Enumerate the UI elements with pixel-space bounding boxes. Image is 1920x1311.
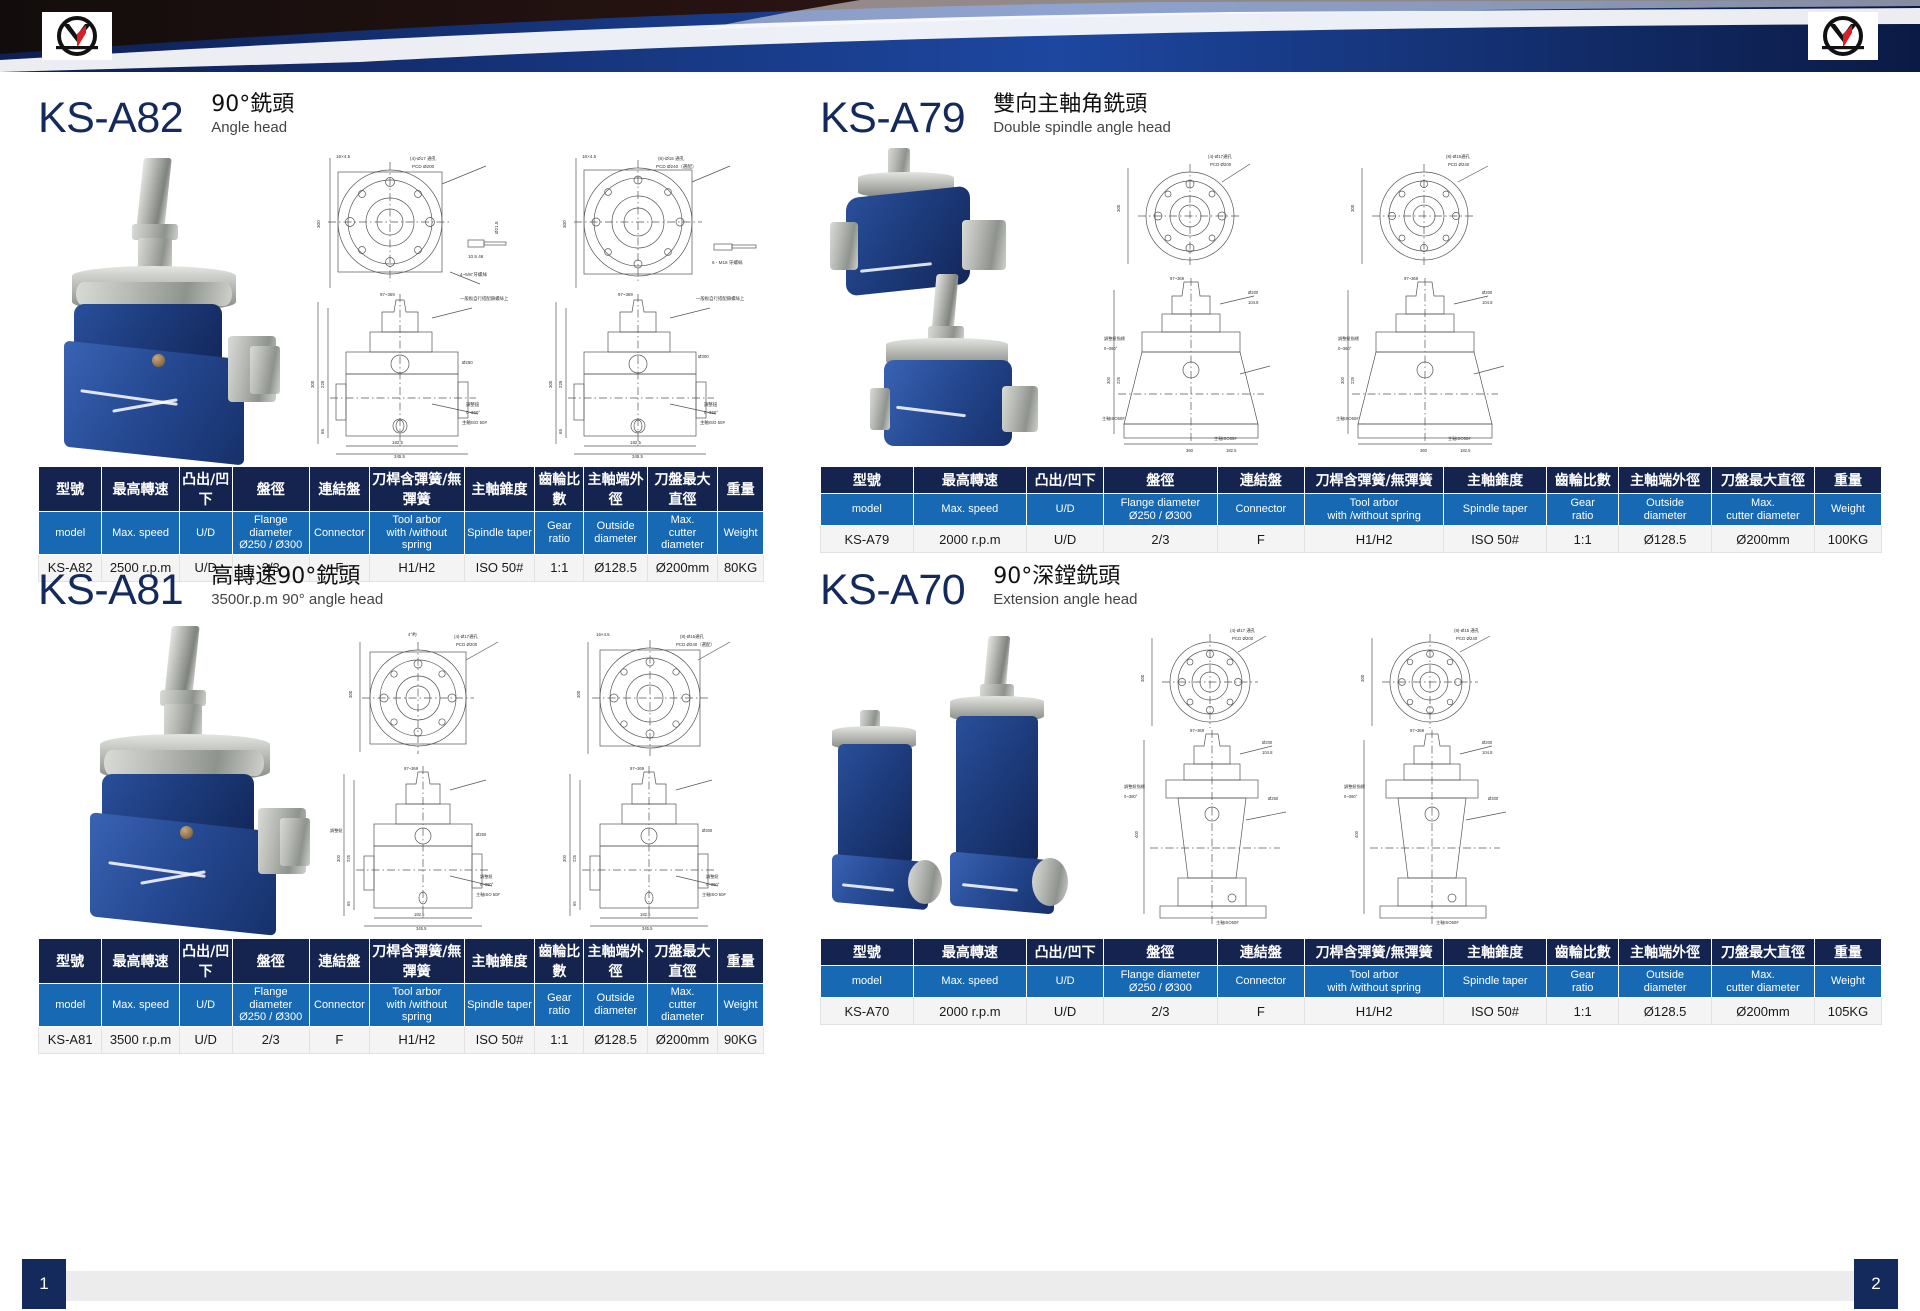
th-en-flange: Flange diameterØ250 / Ø300 [1104, 966, 1217, 998]
product-block-ks-a79: KS-A79 雙向主軸角銑頭 Double spindle angle head [820, 84, 1882, 553]
cell-spindle-taper: ISO 50# [1444, 526, 1547, 553]
product-media-ks-a70: (4)-Ø17 通孔PCD Ø200 300 [820, 620, 1882, 932]
page-number-right: 2 [1854, 1259, 1898, 1309]
svg-text:97~369: 97~369 [380, 292, 395, 297]
th-en-outside-dia: Outsidediameter [1619, 966, 1712, 998]
th-en-weight: Weight [1814, 494, 1881, 526]
technical-drawing-section-right: 97~369 400 Ø200 104.8 Ø300 調整鈕指標 0~360° … [1340, 728, 1530, 928]
svg-text:182.5: 182.5 [1226, 448, 1237, 453]
cell-tool-arbor: H1/H2 [369, 1026, 464, 1053]
svg-text:300: 300 [316, 220, 321, 228]
svg-text:0~360°: 0~360° [480, 882, 494, 887]
cell-spindle-taper: ISO 50# [1444, 998, 1547, 1025]
th-cn-cutter-dia: 刀盤最大直徑 [647, 939, 717, 984]
cell-ud: U/D [1027, 526, 1104, 553]
th-en-tool-arbor: Tool arborwith /without spring [369, 512, 464, 555]
company-logo-icon [56, 15, 98, 57]
svg-text:97~369: 97~369 [1404, 276, 1419, 281]
svg-text:(4)-Ø17通孔: (4)-Ø17通孔 [1208, 153, 1233, 160]
svg-text:300: 300 [562, 220, 567, 228]
cell-gear-ratio: 1:1 [535, 1026, 584, 1053]
th-en-ud: U/D [1027, 966, 1104, 998]
svg-text:Ø200: Ø200 [1482, 290, 1493, 295]
product-title-row: KS-A70 90°深鏜銑頭 Extension angle head [820, 556, 1882, 612]
svg-text:(8)-Ø15通孔: (8)-Ø15通孔 [1446, 153, 1471, 160]
th-en-weight: Weight [718, 984, 764, 1027]
svg-text:104.8: 104.8 [1482, 750, 1493, 755]
svg-text:97~369: 97~369 [1170, 276, 1185, 281]
th-cn-gear-ratio: 齒輪比數 [535, 467, 584, 512]
svg-text:0~360°: 0~360° [1344, 794, 1358, 799]
technical-drawing-section-left: 97~369 400 Ø200 104.8 Ø250 調整鈕指標 0~360° … [1120, 728, 1310, 928]
technical-drawing-side-right: 97~369 300 225 65 182.5 345.5 Ø300 一般板自行… [538, 288, 776, 458]
th-cn-gear-ratio: 齒輪比數 [1547, 939, 1619, 966]
cell-gear-ratio: 1:1 [1547, 526, 1619, 553]
svg-text:225: 225 [558, 380, 563, 388]
th-cn-outside-dia: 主軸端外徑 [584, 467, 647, 512]
svg-text:97~369: 97~369 [404, 766, 419, 771]
svg-text:PCD Ø240（選配）: PCD Ø240（選配） [676, 641, 715, 648]
svg-text:97~369: 97~369 [630, 766, 645, 771]
technical-drawing-rear: (8)-Ø15 通孔 PCD Ø240（選配） 16×4.5 6 - M18 牙… [538, 148, 776, 296]
th-en-cutter-dia: Max.cutter diameter [1711, 494, 1814, 526]
table-header-cn-row: 型號 最高轉速 凸出/凹下 盤徑 連結盤 刀桿含彈簧/無彈簧 主軸錐度 齒輪比數… [39, 939, 764, 984]
svg-text:300: 300 [1140, 674, 1145, 682]
svg-text:182.5: 182.5 [414, 912, 425, 917]
svg-text:182.5: 182.5 [1460, 448, 1471, 453]
svg-text:300: 300 [548, 380, 553, 388]
cell-weight: 105KG [1814, 998, 1881, 1025]
svg-text:65: 65 [346, 901, 351, 906]
th-en-connector: Connector [1217, 494, 1305, 526]
header-swoosh-graphic [0, 0, 1920, 72]
th-en-model: model [821, 966, 914, 998]
th-en-gear-ratio: Gearratio [1547, 966, 1619, 998]
technical-drawing-side-left: 97~369 300 225 65 182.5 345.5 Ø250 調整鈕 調… [326, 762, 538, 930]
svg-text:調整鈕指標: 調整鈕指標 [1124, 783, 1146, 790]
svg-text:Ø200: Ø200 [1248, 290, 1259, 295]
th-cn-weight: 重量 [1814, 939, 1881, 966]
svg-text:PCD Ø240（選配）: PCD Ø240（選配） [656, 163, 697, 170]
svg-text:Ø250: Ø250 [462, 360, 473, 365]
spec-table-ks-a70: 型號 最高轉速 凸出/凹下 盤徑 連結盤 刀桿含彈簧/無彈簧 主軸錐度 齒輪比數… [820, 938, 1882, 1025]
footer-bar [36, 1271, 1884, 1301]
technical-drawing-front: (4)-Ø17 通孔 PCD Ø200 16×4.5 10.5 46 4~5/8… [300, 148, 538, 296]
table-header-en-row: model Max. speed U/D Flange diameterØ250… [39, 512, 764, 555]
product-title-cn: 高轉速90°銑頭 [211, 565, 383, 589]
svg-text:主軸ISO50#: 主軸ISO50# [1436, 919, 1459, 926]
cell-max-speed: 2000 r.p.m [913, 998, 1026, 1025]
cell-spindle-taper: ISO 50# [464, 1026, 534, 1053]
product-title-row: KS-A81 高轉速90°銑頭 3500r.p.m 90° angle head [38, 556, 764, 612]
svg-text:主軸ISO50#: 主軸ISO50# [1448, 435, 1471, 442]
svg-text:300: 300 [1116, 204, 1121, 212]
th-en-tool-arbor: Tool arborwith /without spring [1305, 494, 1444, 526]
th-en-cutter-dia: Max.cutter diameter [1711, 966, 1814, 998]
cell-model: KS-A79 [821, 526, 914, 553]
technical-drawing-side-left: 97~369 300 225 65 182.5 345.5 Ø250 一般板自行… [300, 288, 538, 458]
cell-outside-dia: Ø128.5 [1619, 998, 1712, 1025]
th-en-flange: Flange diameterØ250 / Ø300 [232, 512, 309, 555]
svg-text:PCD Ø200: PCD Ø200 [412, 164, 435, 169]
th-cn-connector: 連結盤 [309, 939, 369, 984]
product-title-en: Angle head [211, 119, 294, 138]
th-cn-model: 型號 [39, 467, 102, 512]
th-en-gear-ratio: Gearratio [535, 512, 584, 555]
svg-text:(8)-Ø15 通孔: (8)-Ø15 通孔 [1454, 627, 1480, 634]
technical-drawing-rear: 16×4.5 (8)-Ø15通孔PCD Ø240（選配） 300 [552, 626, 764, 766]
th-en-tool-arbor: Tool arborwith /without spring [369, 984, 464, 1027]
cell-flange: 2/3 [1104, 526, 1217, 553]
page-header [0, 0, 1920, 72]
cell-connector: F [309, 1026, 369, 1053]
svg-text:一般板自行搭配鎖螺絲上: 一般板自行搭配鎖螺絲上 [460, 295, 509, 302]
th-cn-tool-arbor: 刀桿含彈簧/無彈簧 [369, 939, 464, 984]
cell-flange: 2/3 [1104, 998, 1217, 1025]
svg-text:300: 300 [1340, 376, 1345, 384]
th-cn-cutter-dia: 刀盤最大直徑 [1711, 467, 1814, 494]
svg-text:調整鈕: 調整鈕 [704, 401, 718, 408]
svg-text:主軸ISO 50#: 主軸ISO 50# [700, 419, 725, 426]
product-title-en: Extension angle head [993, 591, 1137, 610]
th-cn-tool-arbor: 刀桿含彈簧/無彈簧 [369, 467, 464, 512]
svg-text:調整鈕: 調整鈕 [330, 827, 343, 834]
table-header-en-row: model Max. speed U/D Flange diameterØ250… [821, 966, 1882, 998]
th-cn-connector: 連結盤 [1217, 939, 1305, 966]
cell-flange: 2/3 [232, 1026, 309, 1053]
technical-drawing-front: 4°約 (4)-Ø17通孔PCD Ø200 300 [326, 626, 538, 766]
th-en-spindle-taper: Spindle taper [1444, 966, 1547, 998]
th-en-ud: U/D [1027, 494, 1104, 526]
svg-text:65: 65 [320, 429, 325, 434]
svg-text:(8)-Ø15 通孔: (8)-Ø15 通孔 [658, 155, 685, 162]
page-title: KS-A81 [38, 569, 183, 612]
svg-text:345.5: 345.5 [416, 926, 427, 930]
svg-text:225: 225 [1350, 376, 1355, 384]
svg-text:一般板自行搭配鎖螺絲上: 一般板自行搭配鎖螺絲上 [696, 295, 745, 302]
svg-text:300: 300 [1360, 674, 1365, 682]
product-photo-right [936, 636, 1066, 930]
th-cn-connector: 連結盤 [1217, 467, 1305, 494]
svg-text:PCD Ø240: PCD Ø240 [1456, 636, 1478, 641]
svg-text:400: 400 [1354, 830, 1359, 838]
th-en-outside-dia: Outsidediameter [584, 512, 647, 555]
svg-text:Ø200: Ø200 [1482, 740, 1493, 745]
th-en-max-speed: Max. speed [913, 494, 1026, 526]
product-photo [830, 148, 1050, 460]
svg-text:300: 300 [1350, 204, 1355, 212]
th-cn-ud: 凸出/凹下 [1027, 939, 1104, 966]
svg-text:104.8: 104.8 [1482, 300, 1493, 305]
svg-text:調整鈕: 調整鈕 [466, 401, 480, 408]
spec-table-ks-a81: 型號 最高轉速 凸出/凹下 盤徑 連結盤 刀桿含彈簧/無彈簧 主軸錐度 齒輪比數… [38, 938, 764, 1054]
svg-text:PCD Ø200: PCD Ø200 [1232, 636, 1254, 641]
th-cn-outside-dia: 主軸端外徑 [1619, 939, 1712, 966]
cell-tool-arbor: H1/H2 [1305, 998, 1444, 1025]
th-en-max-speed: Max. speed [102, 512, 179, 555]
th-en-cutter-dia: Max.cutter diameter [647, 984, 717, 1027]
th-cn-tool-arbor: 刀桿含彈簧/無彈簧 [1305, 939, 1444, 966]
th-cn-max-speed: 最高轉速 [913, 939, 1026, 966]
th-en-outside-dia: Outsidediameter [1619, 494, 1712, 526]
svg-text:0~360°: 0~360° [1338, 346, 1352, 351]
svg-text:0~360°: 0~360° [1124, 794, 1138, 799]
product-block-ks-a82: KS-A82 90°銑頭 Angle head [38, 84, 764, 582]
svg-text:360: 360 [1186, 448, 1194, 453]
svg-text:PCD Ø240: PCD Ø240 [1448, 162, 1470, 167]
product-photo-left [824, 710, 944, 930]
th-cn-model: 型號 [821, 467, 914, 494]
th-cn-flange: 盤徑 [1104, 939, 1217, 966]
th-cn-weight: 重量 [718, 939, 764, 984]
product-photo [52, 154, 282, 454]
th-cn-outside-dia: 主軸端外徑 [1619, 467, 1712, 494]
product-title-cn: 雙向主軸角銑頭 [993, 93, 1171, 117]
svg-text:(4)-Ø17 通孔: (4)-Ø17 通孔 [410, 155, 437, 162]
cell-ud: U/D [1027, 998, 1104, 1025]
th-en-max-speed: Max. speed [913, 966, 1026, 998]
svg-text:PCD Ø200: PCD Ø200 [456, 642, 478, 647]
company-logo-icon [1822, 15, 1864, 57]
th-cn-tool-arbor: 刀桿含彈簧/無彈簧 [1305, 467, 1444, 494]
th-cn-connector: 連結盤 [309, 467, 369, 512]
svg-text:調整鈕指標: 調整鈕指標 [1338, 335, 1360, 342]
th-cn-flange: 盤徑 [232, 467, 309, 512]
svg-text:主軸ISO 50#: 主軸ISO 50# [476, 891, 500, 898]
svg-text:300: 300 [336, 854, 341, 862]
product-block-ks-a81: KS-A81 高轉速90°銑頭 3500r.p.m 90° angle head [38, 556, 764, 1054]
svg-text:4°約: 4°約 [408, 631, 417, 638]
th-en-flange: Flange diameterØ250 / Ø300 [232, 984, 309, 1027]
svg-text:16×4.5: 16×4.5 [596, 632, 610, 637]
cell-model: KS-A81 [39, 1026, 102, 1053]
svg-text:225: 225 [1116, 376, 1121, 384]
page-footer: 1 2 [0, 1259, 1920, 1311]
svg-text:6 - M18 牙螺絲: 6 - M18 牙螺絲 [712, 259, 743, 266]
svg-text:主軸ISO50#: 主軸ISO50# [1102, 415, 1125, 422]
th-cn-gear-ratio: 齒輪比數 [1547, 467, 1619, 494]
cell-cutter-dia: Ø200mm [1711, 998, 1814, 1025]
svg-text:調整鈕: 調整鈕 [480, 873, 493, 880]
th-en-model: model [39, 984, 102, 1027]
svg-text:(4)-Ø17通孔: (4)-Ø17通孔 [454, 633, 479, 640]
svg-text:0~360°: 0~360° [704, 410, 718, 415]
svg-text:97~369: 97~369 [618, 292, 633, 297]
cell-tool-arbor: H1/H2 [1305, 526, 1444, 553]
table-header-cn-row: 型號 最高轉速 凸出/凹下 盤徑 連結盤 刀桿含彈簧/無彈簧 主軸錐度 齒輪比數… [821, 467, 1882, 494]
svg-text:Ø250: Ø250 [476, 832, 487, 837]
page-title: KS-A70 [820, 569, 965, 612]
svg-text:300: 300 [348, 690, 353, 698]
svg-text:300: 300 [576, 690, 581, 698]
svg-text:225: 225 [572, 854, 577, 862]
svg-text:主軸ISO 50#: 主軸ISO 50# [702, 891, 726, 898]
svg-text:345.5: 345.5 [632, 454, 644, 458]
svg-text:182.5: 182.5 [392, 440, 404, 445]
svg-text:調整鈕指標: 調整鈕指標 [1344, 783, 1366, 790]
technical-drawing-side-right: 97~369 300 225 65 182.5 345.5 Ø300 調整鈕 0… [552, 762, 764, 930]
product-media-ks-a81: 4°約 (4)-Ø17通孔PCD Ø200 300 [38, 620, 764, 932]
svg-text:主軸ISO50#: 主軸ISO50# [1216, 919, 1239, 926]
svg-text:Ø300: Ø300 [702, 828, 713, 833]
cell-outside-dia: Ø128.5 [1619, 526, 1712, 553]
svg-text:0~360°: 0~360° [706, 882, 720, 887]
table-header-cn-row: 型號 最高轉速 凸出/凹下 盤徑 連結盤 刀桿含彈簧/無彈簧 主軸錐度 齒輪比數… [821, 939, 1882, 966]
th-en-weight: Weight [1814, 966, 1881, 998]
table-row: KS-A70 2000 r.p.m U/D 2/3 F H1/H2 ISO 50… [821, 998, 1882, 1025]
cell-cutter-dia: Ø200mm [1711, 526, 1814, 553]
page-title: KS-A79 [820, 97, 965, 140]
table-row: KS-A79 2000 r.p.m U/D 2/3 F H1/H2 ISO 50… [821, 526, 1882, 553]
product-media-ks-a79: (4)-Ø17通孔PCD Ø200 300 [820, 148, 1882, 460]
th-en-spindle-taper: Spindle taper [464, 984, 534, 1027]
svg-text:主軸ISO50#: 主軸ISO50# [1214, 435, 1237, 442]
logo-right [1808, 12, 1878, 60]
svg-text:182.5: 182.5 [640, 912, 651, 917]
cell-connector: F [1217, 526, 1305, 553]
th-en-spindle-taper: Spindle taper [464, 512, 534, 555]
svg-text:主軸ISO50#: 主軸ISO50# [1336, 415, 1359, 422]
th-en-model: model [821, 494, 914, 526]
svg-text:65: 65 [558, 429, 563, 434]
th-cn-ud: 凸出/凹下 [179, 467, 232, 512]
cell-weight: 100KG [1814, 526, 1881, 553]
th-en-model: model [39, 512, 102, 555]
cell-max-speed: 2000 r.p.m [913, 526, 1026, 553]
svg-text:300: 300 [1106, 376, 1111, 384]
th-cn-max-speed: 最高轉速 [913, 467, 1026, 494]
product-title-en: Double spindle angle head [993, 119, 1171, 138]
th-en-gear-ratio: Gearratio [535, 984, 584, 1027]
product-title-row: KS-A82 90°銑頭 Angle head [38, 84, 764, 140]
th-en-outside-dia: Outsidediameter [584, 984, 647, 1027]
th-cn-spindle-taper: 主軸錐度 [1444, 939, 1547, 966]
spec-table-ks-a79: 型號 最高轉速 凸出/凹下 盤徑 連結盤 刀桿含彈簧/無彈簧 主軸錐度 齒輪比數… [820, 466, 1882, 553]
svg-text:97~369: 97~369 [1410, 728, 1425, 733]
th-en-tool-arbor: Tool arborwith /without spring [1305, 966, 1444, 998]
th-cn-weight: 重量 [1814, 467, 1881, 494]
cell-outside-dia: Ø128.5 [584, 1026, 647, 1053]
cell-ud: U/D [179, 1026, 232, 1053]
svg-text:225: 225 [320, 380, 325, 388]
svg-text:0~360°: 0~360° [1104, 346, 1118, 351]
svg-text:104.8: 104.8 [1262, 750, 1273, 755]
product-title-cn: 90°銑頭 [211, 93, 294, 117]
product-title-row: KS-A79 雙向主軸角銑頭 Double spindle angle head [820, 84, 1882, 140]
svg-text:104.8: 104.8 [1248, 300, 1259, 305]
technical-drawing-section-left: 97~369 300 225 Ø200 104.8 調整鈕指標 0~360° 主… [1098, 274, 1288, 454]
th-cn-ud: 凸出/凹下 [179, 939, 232, 984]
svg-text:16×4.5: 16×4.5 [582, 154, 597, 159]
th-cn-max-speed: 最高轉速 [102, 939, 179, 984]
th-en-ud: U/D [179, 512, 232, 555]
svg-text:345.5: 345.5 [642, 926, 653, 930]
th-en-connector: Connector [309, 512, 369, 555]
cell-model: KS-A70 [821, 998, 914, 1025]
th-cn-ud: 凸出/凹下 [1027, 467, 1104, 494]
th-cn-spindle-taper: 主軸錐度 [464, 939, 534, 984]
svg-text:182.5: 182.5 [630, 440, 642, 445]
th-cn-cutter-dia: 刀盤最大直徑 [647, 467, 717, 512]
table-row: KS-A81 3500 r.p.m U/D 2/3 F H1/H2 ISO 50… [39, 1026, 764, 1053]
page-number-left: 1 [22, 1259, 66, 1309]
th-en-flange: Flange diameterØ250 / Ø300 [1104, 494, 1217, 526]
svg-text:Ø250: Ø250 [1268, 796, 1279, 801]
svg-text:Ø300: Ø300 [1488, 796, 1499, 801]
th-en-cutter-dia: Max.cutter diameter [647, 512, 717, 555]
cell-gear-ratio: 1:1 [1547, 998, 1619, 1025]
th-en-ud: U/D [179, 984, 232, 1027]
product-media-ks-a82: (4)-Ø17 通孔 PCD Ø200 16×4.5 10.5 46 4~5/8… [38, 148, 764, 460]
svg-text:Ø300: Ø300 [698, 354, 709, 359]
th-cn-flange: 盤徑 [232, 939, 309, 984]
svg-text:400: 400 [1134, 830, 1139, 838]
th-en-gear-ratio: Gearratio [1547, 494, 1619, 526]
technical-drawing-section-right: 97~369 300 225 Ø200 104.8 調整鈕指標 0~360° 主… [1332, 274, 1522, 454]
svg-text:(8)-Ø15通孔: (8)-Ø15通孔 [680, 633, 705, 640]
technical-drawing-front: (4)-Ø17 通孔PCD Ø200 300 [1120, 624, 1310, 734]
table-header-cn-row: 型號 最高轉速 凸出/凹下 盤徑 連結盤 刀桿含彈簧/無彈簧 主軸錐度 齒輪比數… [39, 467, 764, 512]
cell-connector: F [1217, 998, 1305, 1025]
th-cn-model: 型號 [821, 939, 914, 966]
catalog-page: KS-A82 90°銑頭 Angle head [0, 0, 1920, 1311]
svg-text:345.5: 345.5 [394, 454, 406, 458]
svg-text:PCD Ø200: PCD Ø200 [1210, 162, 1232, 167]
th-en-max-speed: Max. speed [102, 984, 179, 1027]
th-cn-spindle-taper: 主軸錐度 [1444, 467, 1547, 494]
th-cn-flange: 盤徑 [1104, 467, 1217, 494]
svg-text:調整鈕: 調整鈕 [706, 873, 719, 880]
th-cn-cutter-dia: 刀盤最大直徑 [1711, 939, 1814, 966]
svg-text:0~360°: 0~360° [466, 410, 480, 415]
svg-text:10.5 46: 10.5 46 [468, 254, 484, 259]
svg-text:16×4.5: 16×4.5 [336, 154, 351, 159]
th-cn-spindle-taper: 主軸錐度 [464, 467, 534, 512]
technical-drawing-rear: (8)-Ø15通孔PCD Ø240 300 [1332, 148, 1522, 278]
cell-max-speed: 3500 r.p.m [102, 1026, 179, 1053]
table-header-en-row: model Max. speed U/D Flange diameterØ250… [821, 494, 1882, 526]
svg-text:4~5/8"牙螺絲: 4~5/8"牙螺絲 [460, 271, 487, 278]
svg-text:97~369: 97~369 [1190, 728, 1205, 733]
page-title: KS-A82 [38, 97, 183, 140]
th-en-spindle-taper: Spindle taper [1444, 494, 1547, 526]
svg-text:調整鈕指標: 調整鈕指標 [1104, 335, 1126, 342]
product-title-en: 3500r.p.m 90° angle head [211, 591, 383, 610]
technical-drawing-rear: (8)-Ø15 通孔PCD Ø240 300 [1340, 624, 1530, 734]
svg-text:主軸ISO 50#: 主軸ISO 50# [462, 419, 487, 426]
th-cn-max-speed: 最高轉速 [102, 467, 179, 512]
svg-text:Ø200: Ø200 [1262, 740, 1273, 745]
table-header-en-row: model Max. speed U/D Flange diameterØ250… [39, 984, 764, 1027]
cell-cutter-dia: Ø200mm [647, 1026, 717, 1053]
product-photo [72, 626, 312, 926]
th-cn-outside-dia: 主軸端外徑 [584, 939, 647, 984]
product-title-cn: 90°深鏜銑頭 [993, 565, 1137, 589]
th-en-weight: Weight [718, 512, 764, 555]
svg-text:360: 360 [1420, 448, 1428, 453]
svg-text:Ø21.8: Ø21.8 [494, 221, 499, 234]
th-en-connector: Connector [1217, 966, 1305, 998]
th-cn-model: 型號 [39, 939, 102, 984]
product-block-ks-a70: KS-A70 90°深鏜銑頭 Extension angle head [820, 556, 1882, 1025]
technical-drawing-front: (4)-Ø17通孔PCD Ø200 300 [1098, 148, 1288, 278]
svg-text:225: 225 [346, 854, 351, 862]
th-cn-gear-ratio: 齒輪比數 [535, 939, 584, 984]
svg-text:300: 300 [562, 854, 567, 862]
cell-weight: 90KG [718, 1026, 764, 1053]
svg-text:(4)-Ø17 通孔: (4)-Ø17 通孔 [1230, 627, 1256, 634]
svg-text:65: 65 [572, 901, 577, 906]
